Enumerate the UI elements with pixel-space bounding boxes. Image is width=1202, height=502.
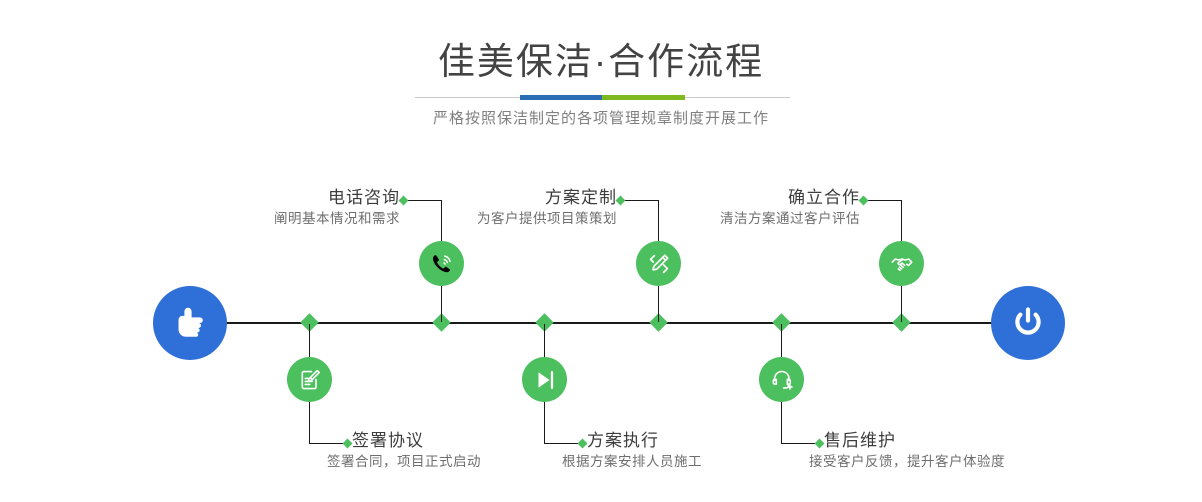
step-label-step-3: 方案定制 为客户提供项目策策划: [367, 187, 617, 229]
divider-green-segment: [602, 95, 685, 100]
pencil-design-icon: [646, 251, 672, 277]
step-name-step-4: 方案执行: [587, 430, 847, 452]
timeline-end-node[interactable]: [991, 286, 1065, 360]
phone-call-icon: [429, 251, 455, 277]
step-name-step-1: 电话咨询: [150, 187, 400, 209]
play-next-icon: [532, 367, 558, 393]
connector-tip-step-2: [343, 439, 353, 449]
step-desc-step-3: 为客户提供项目策策划: [367, 209, 617, 229]
step-icon-bubble-step-3[interactable]: [636, 241, 681, 286]
timeline-start-node[interactable]: [153, 286, 227, 360]
step-name-step-5: 确立合作: [610, 187, 860, 209]
step-label-step-1: 电话咨询 阐明基本情况和需求: [150, 187, 400, 229]
pointing-hand-icon: [169, 302, 211, 344]
page-subtitle: 严格按照保洁制定的各项管理规章制度开展工作: [0, 107, 1202, 131]
divider-blue-segment: [520, 95, 602, 100]
handshake-icon: [889, 251, 915, 277]
step-icon-bubble-step-2[interactable]: [287, 357, 332, 402]
step-label-step-5: 确立合作 清洁方案通过客户评估: [610, 187, 860, 229]
connector-horizontal-step-5: [864, 200, 902, 201]
step-label-step-4: 方案执行 根据方案安排人员施工: [587, 430, 847, 472]
step-icon-bubble-step-5[interactable]: [879, 241, 924, 286]
step-icon-bubble-step-1[interactable]: [419, 241, 464, 286]
headset-support-icon: [769, 367, 795, 393]
step-name-step-2: 签署协议: [352, 430, 612, 452]
step-name-step-3: 方案定制: [367, 187, 617, 209]
step-label-step-6: 售后维护 接受客户反馈，提升客户体验度: [824, 430, 1114, 472]
connector-tip-step-5: [859, 196, 869, 206]
step-icon-bubble-step-6[interactable]: [759, 357, 804, 402]
step-desc-step-6: 接受客户反馈，提升客户体验度: [809, 452, 1114, 472]
step-desc-step-1: 阐明基本情况和需求: [150, 209, 400, 229]
step-desc-step-4: 根据方案安排人员施工: [562, 452, 847, 472]
page-title: 佳美保洁·合作流程: [0, 38, 1202, 86]
power-icon: [1008, 303, 1048, 343]
title-divider: [415, 95, 790, 100]
flow-diagram-canvas: 佳美保洁·合作流程 严格按照保洁制定的各项管理规章制度开展工作: [0, 0, 1202, 502]
step-desc-step-5: 清洁方案通过客户评估: [610, 209, 860, 229]
sign-document-icon: [297, 367, 323, 393]
step-name-step-6: 售后维护: [824, 430, 1114, 452]
step-icon-bubble-step-4[interactable]: [522, 357, 567, 402]
